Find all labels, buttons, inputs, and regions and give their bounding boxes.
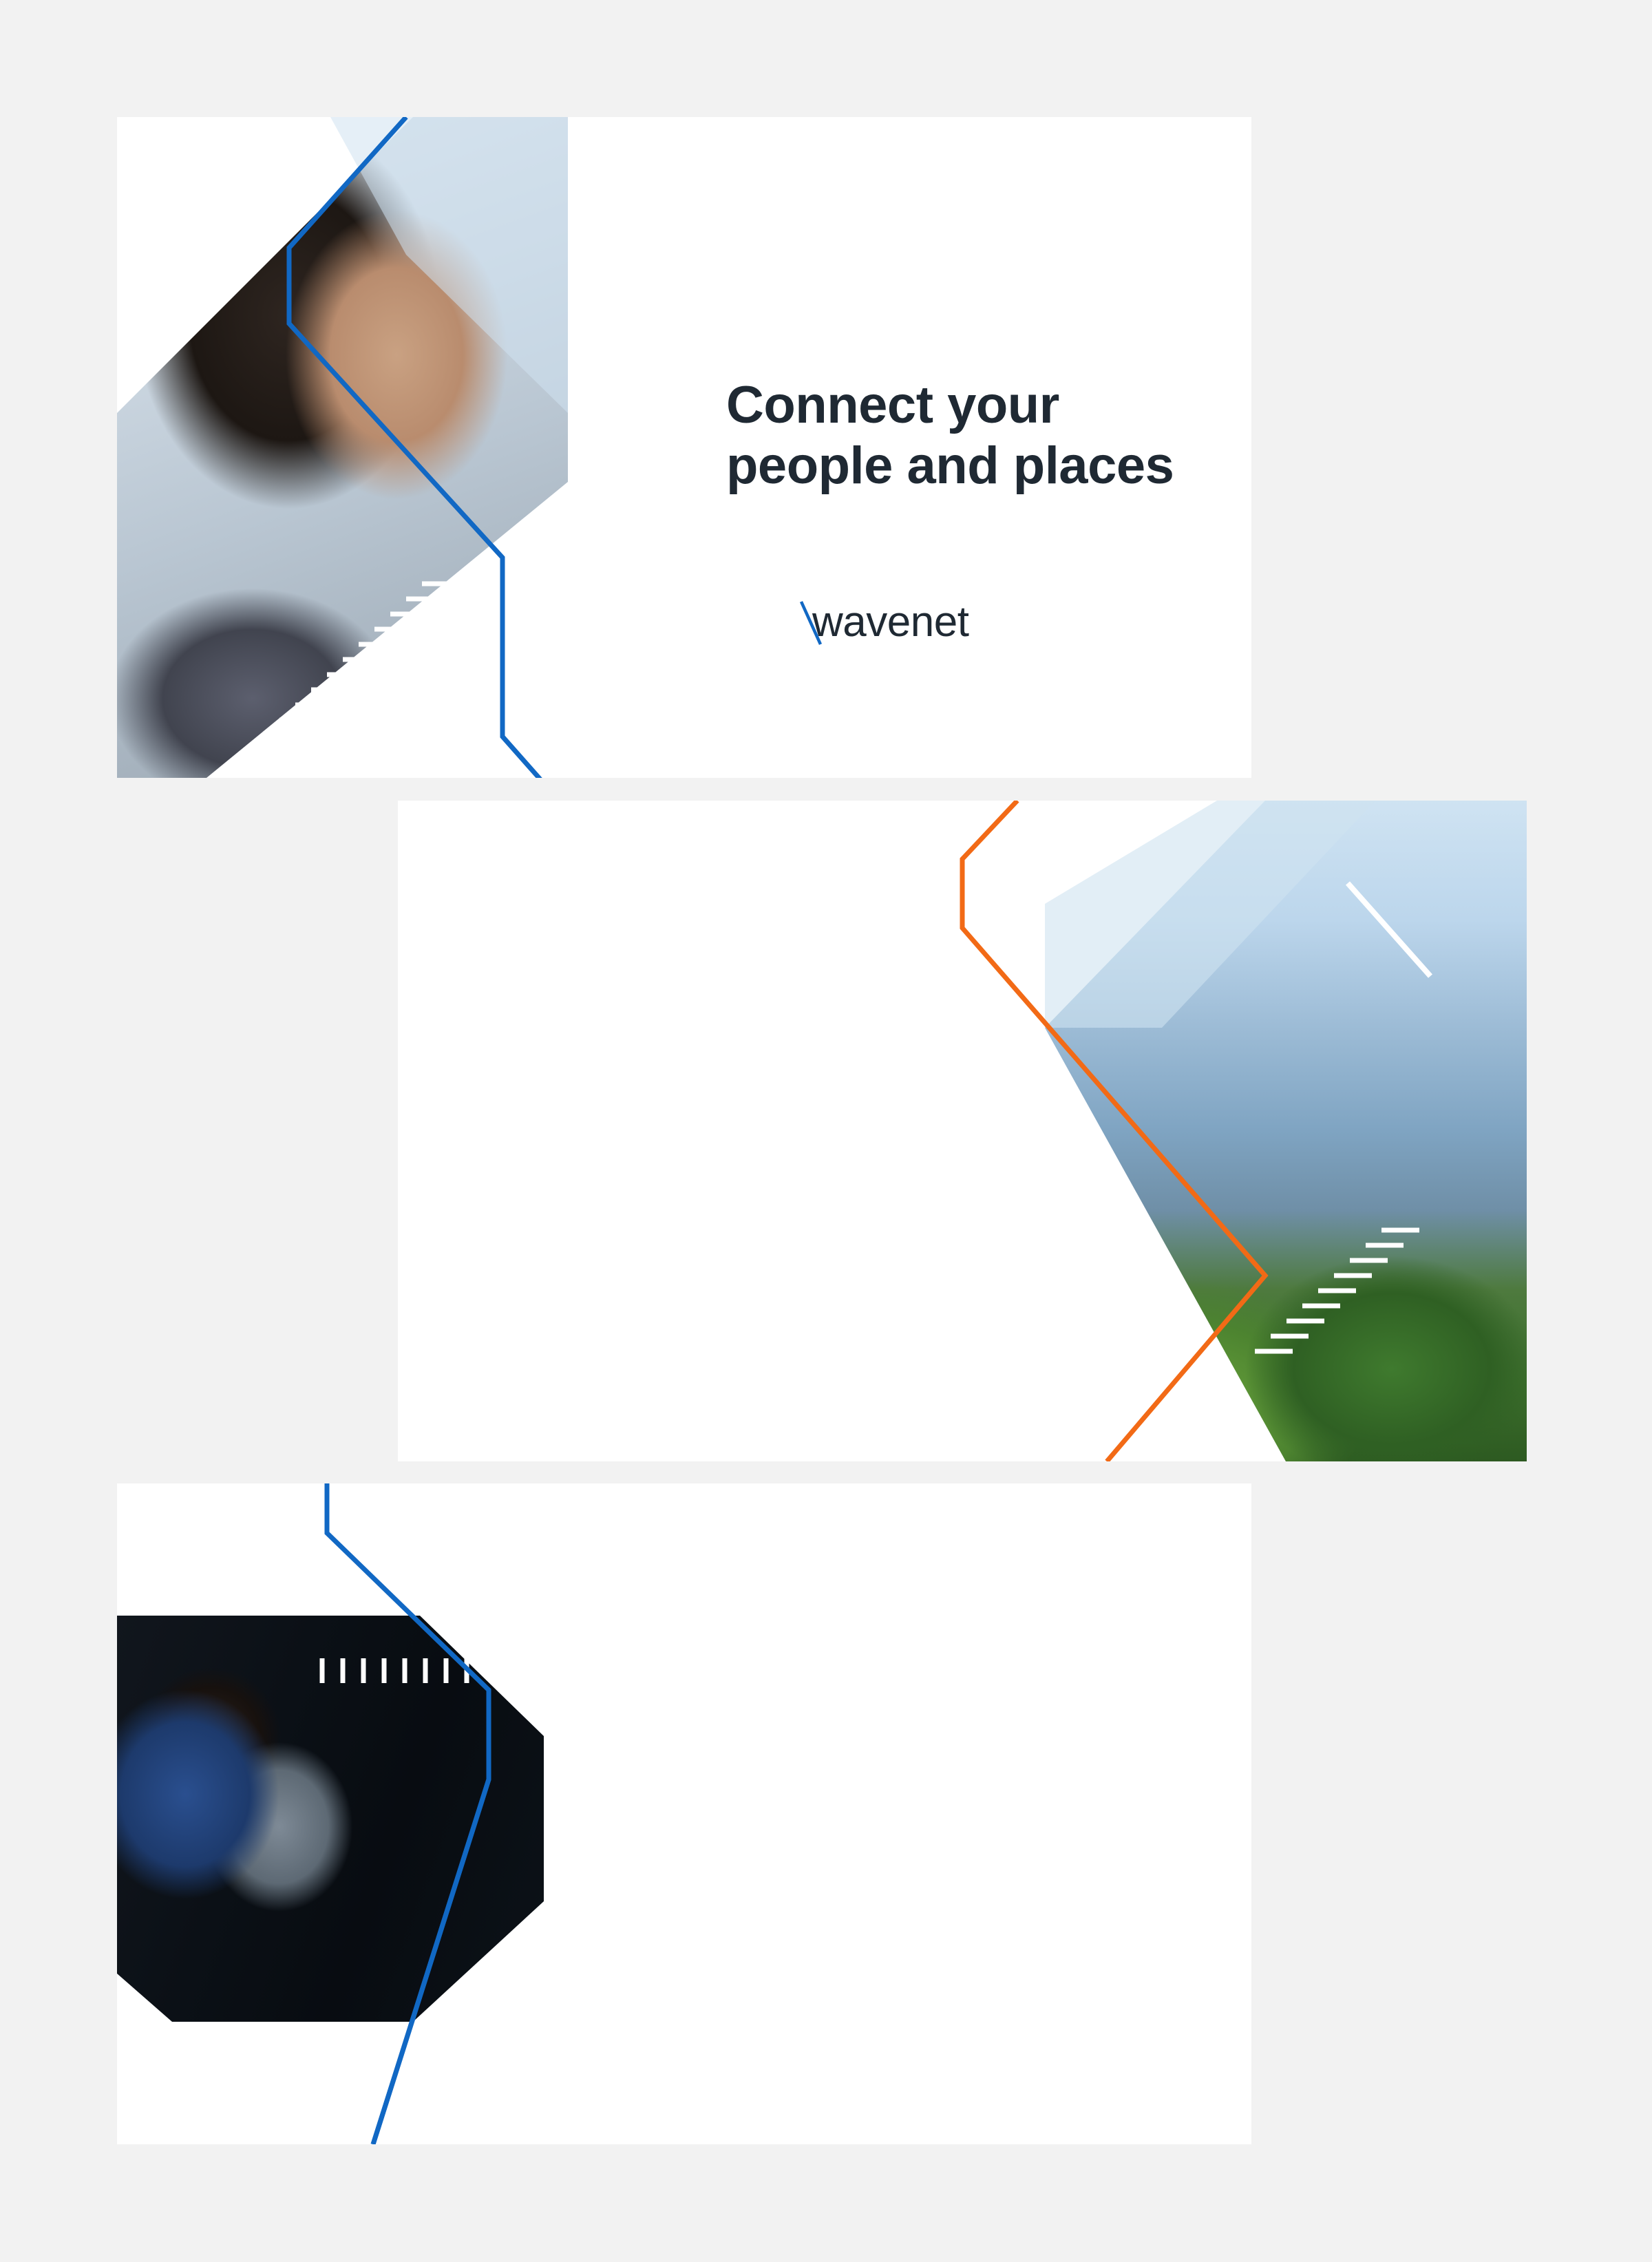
card-1-wavenet-logo: wavenet wavenet bbox=[797, 592, 1024, 653]
data-centre-engineers-photo bbox=[117, 1616, 544, 2022]
woman-with-tablet-photo bbox=[117, 117, 568, 778]
banner-card-telecoms[interactable]: Staying one step ahead of telecoms and s… bbox=[117, 1483, 1251, 2144]
card-3-photo bbox=[117, 1616, 544, 2022]
banner-gallery-page: Connect your people and places wavenet w… bbox=[0, 0, 1652, 2262]
svg-text:wavenet: wavenet bbox=[812, 598, 969, 646]
banner-card-landlords[interactable]: Smarter tech for landlords and building … bbox=[398, 801, 1527, 1461]
banner-card-connect[interactable]: Connect your people and places wavenet w… bbox=[117, 117, 1251, 778]
card-2-photo bbox=[1045, 801, 1527, 1461]
city-skyline-with-trees-photo bbox=[1045, 801, 1527, 1461]
card-1-photo bbox=[117, 117, 568, 778]
wavenet-logo-icon: wavenet bbox=[797, 592, 1024, 650]
card-1-headline: Connect your people and places bbox=[726, 375, 1174, 496]
